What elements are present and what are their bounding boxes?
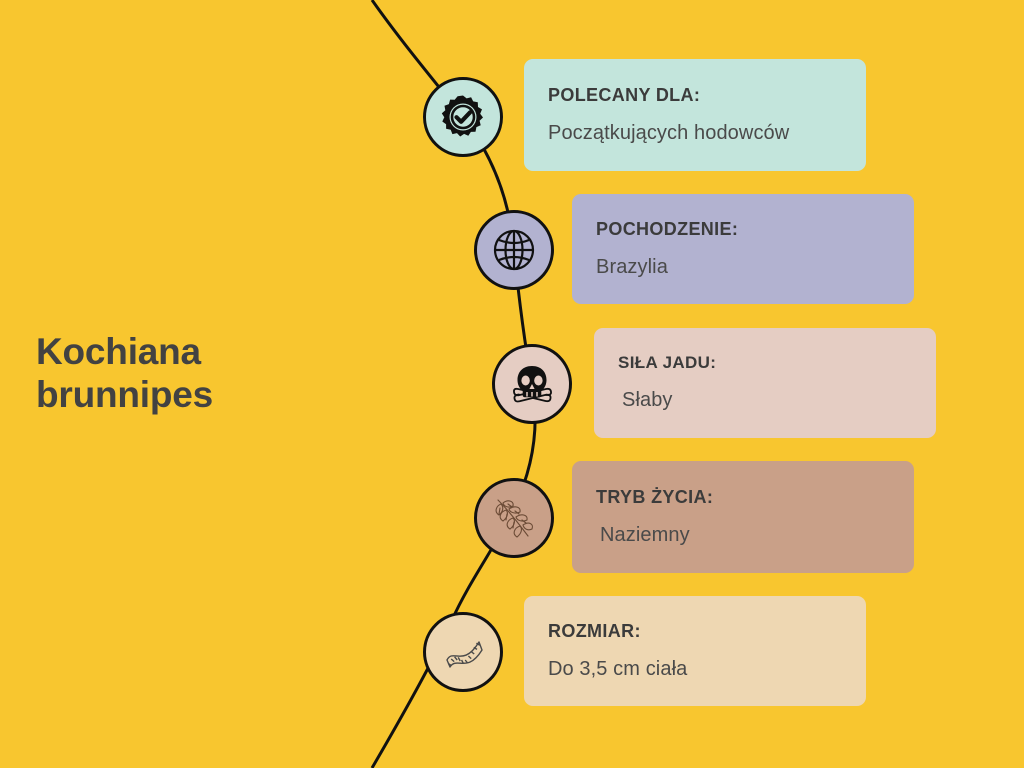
globe-icon (474, 210, 554, 290)
info-card-sila-jadu: SIŁA JADU: Słaby (594, 328, 936, 438)
card-label: ROZMIAR: (548, 621, 842, 642)
species-name: Kochiana brunnipes (36, 330, 336, 417)
skull-crossbones-icon (492, 344, 572, 424)
card-value: Brazylia (596, 256, 890, 279)
page-title: Kochiana brunnipes (36, 330, 336, 417)
info-card-tryb-zycia: TRYB ŻYCIA: Naziemny (572, 461, 914, 573)
card-label: POLECANY DLA: (548, 85, 842, 106)
card-value: Do 3,5 cm ciała (548, 658, 842, 681)
card-value: Naziemny (596, 524, 890, 547)
info-card-rozmiar: ROZMIAR: Do 3,5 cm ciała (524, 596, 866, 706)
measuring-tape-icon (423, 612, 503, 692)
leaf-branch-icon (474, 478, 554, 558)
info-card-polecany-dla: POLECANY DLA: Początkujących hodowców (524, 59, 866, 171)
card-value: Początkujących hodowców (548, 122, 842, 145)
info-card-pochodzenie: POCHODZENIE: Brazylia (572, 194, 914, 304)
card-label: POCHODZENIE: (596, 219, 890, 240)
infographic-canvas: Kochiana brunnipes (0, 0, 1024, 768)
card-label: SIŁA JADU: (618, 353, 912, 373)
card-label: TRYB ŻYCIA: (596, 487, 890, 508)
verified-badge-check-icon (423, 77, 503, 157)
card-value: Słaby (618, 389, 912, 412)
